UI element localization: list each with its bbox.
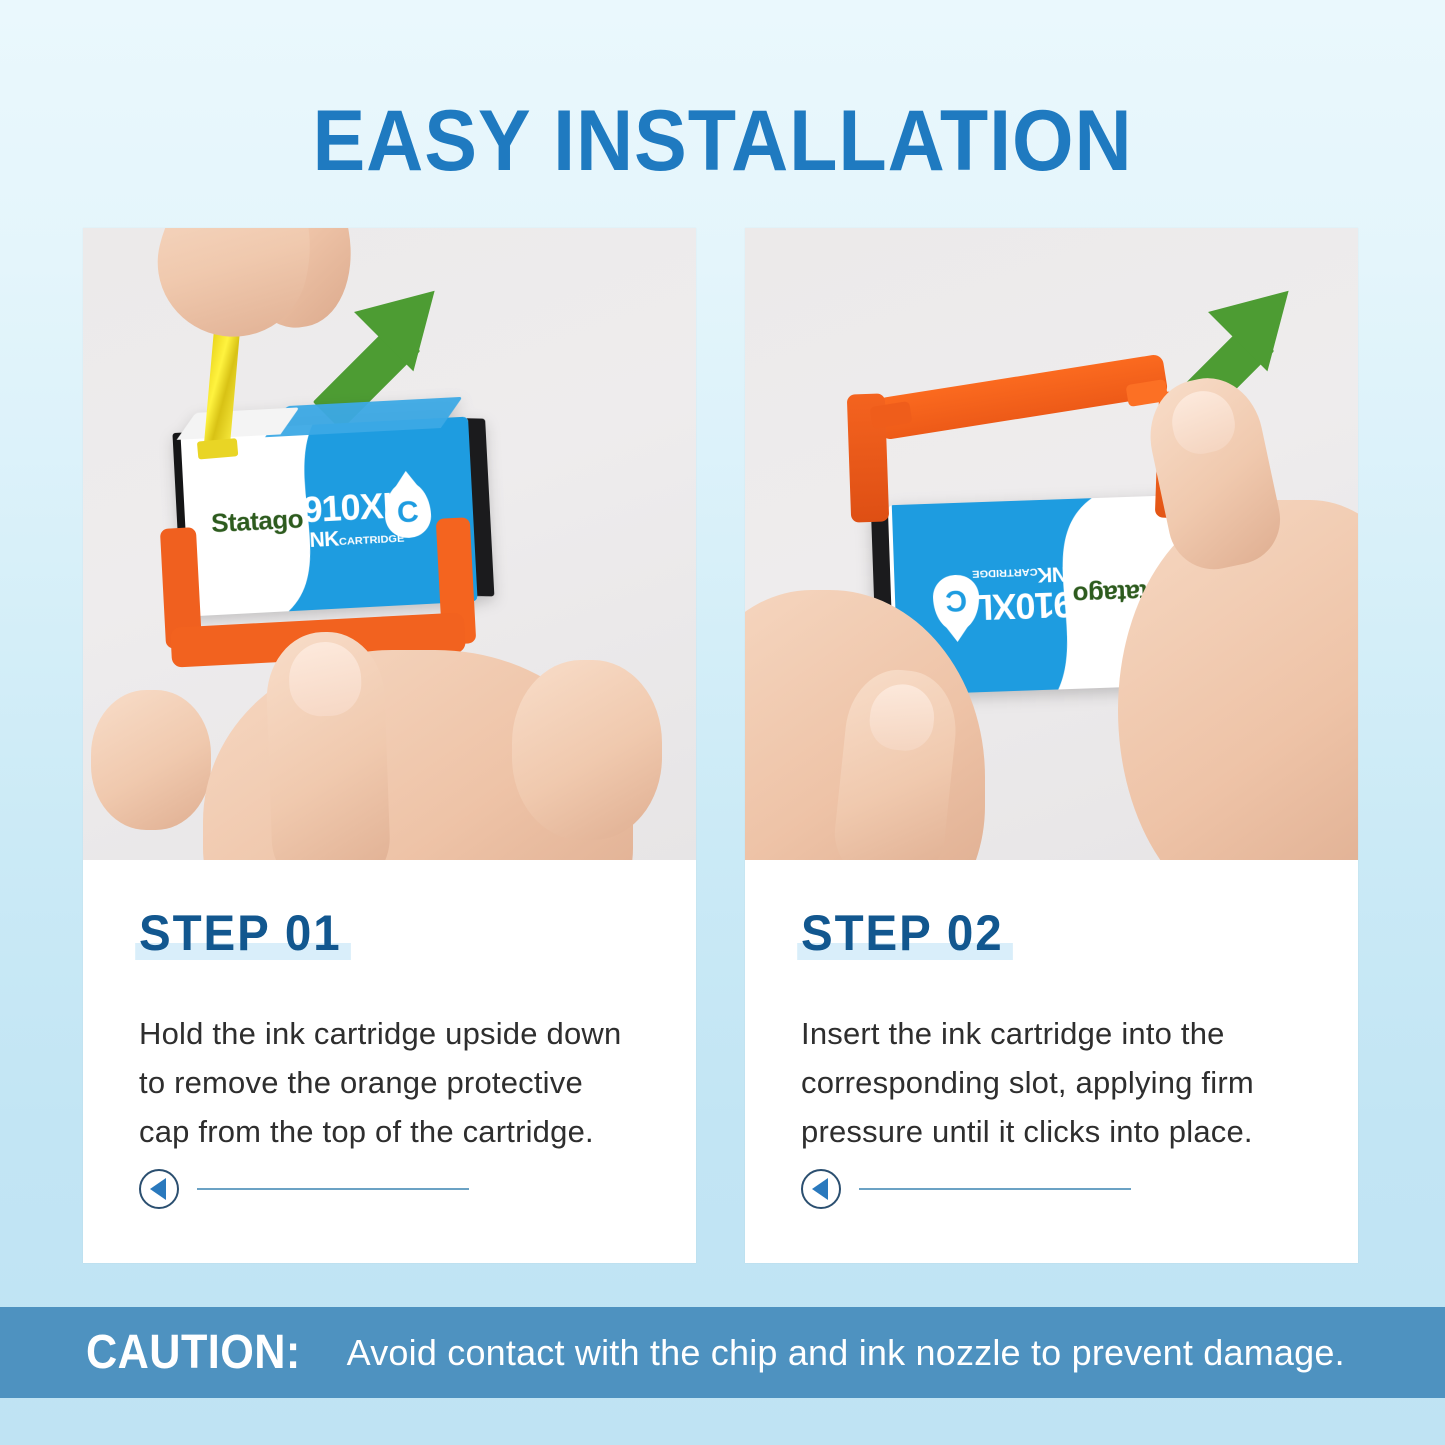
step-card-02: Statago 910XL INKCARTRIDGE C	[745, 228, 1358, 1263]
play-left-arrow-icon[interactable]	[139, 1169, 179, 1209]
cartridge-model-label: 910XL	[972, 586, 1074, 624]
caution-bar: CAUTION: Avoid contact with the chip and…	[0, 1307, 1445, 1398]
step-01-body: Hold the ink cartridge upside down to re…	[139, 1010, 639, 1157]
caution-text: Avoid contact with the chip and ink nozz…	[347, 1332, 1345, 1374]
cartridge-cartridge-word: CARTRIDGE	[972, 566, 1038, 579]
step-02-heading: STEP 02	[801, 904, 1004, 962]
footer-divider	[859, 1188, 1131, 1190]
left-thumbnail	[867, 681, 938, 753]
step-01-text: STEP 01 Hold the ink cartridge upside do…	[83, 860, 696, 1263]
step-01-photo: Statago 910XL INKCARTRIDGE C	[83, 228, 696, 860]
ink-droplet-icon: C	[932, 574, 980, 632]
cartridge-ink-label: INKCARTRIDGE	[972, 561, 1073, 588]
hand-knuckle-second	[91, 690, 211, 830]
footer-divider	[197, 1188, 469, 1190]
step-02-body: Insert the ink cartridge into the corres…	[801, 1010, 1301, 1157]
step-card-01: Statago 910XL INKCARTRIDGE C	[83, 228, 696, 1263]
hand-knuckle	[512, 660, 662, 840]
play-left-arrow-icon[interactable]	[801, 1169, 841, 1209]
step-02-text: STEP 02 Insert the ink cartridge into th…	[745, 860, 1358, 1263]
steps-container: Statago 910XL INKCARTRIDGE C	[83, 228, 1362, 1263]
right-fingernail	[1166, 385, 1240, 459]
caution-label: CAUTION:	[86, 1325, 301, 1380]
thumb	[265, 630, 392, 860]
step-02-photo: Statago 910XL INKCARTRIDGE C	[745, 228, 1358, 860]
step-02-footer	[801, 1169, 1131, 1209]
cartridge-color-code: C	[932, 574, 980, 632]
page-title: EASY INSTALLATION	[58, 92, 1387, 191]
step-01-footer	[139, 1169, 469, 1209]
step-01-heading: STEP 01	[139, 904, 342, 962]
thumbnail	[288, 641, 363, 717]
